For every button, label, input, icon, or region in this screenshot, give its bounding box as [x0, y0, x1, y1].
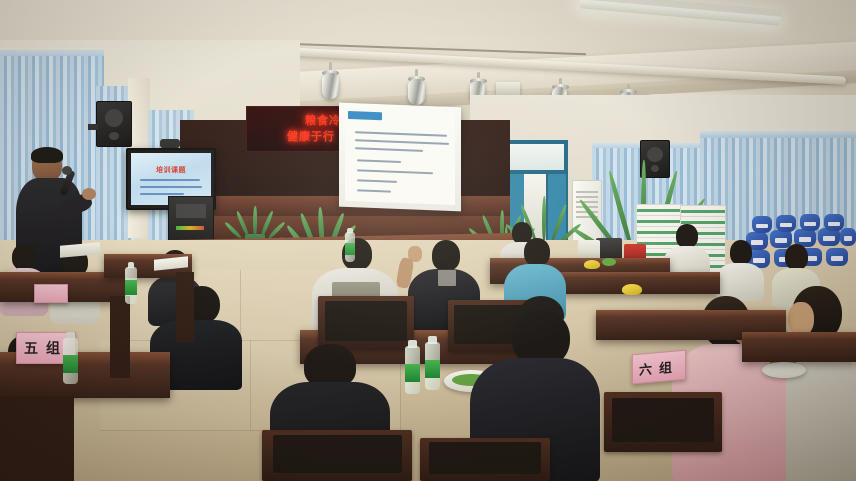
- slide-text-line: [355, 131, 447, 137]
- slide-header-bar: [348, 111, 382, 120]
- face: [788, 302, 814, 336]
- speaker-bracket-left: [88, 124, 98, 130]
- presenter-hand: [82, 188, 96, 200]
- bananas: [584, 260, 600, 269]
- slide-text-line: [357, 189, 391, 192]
- ceiling-projector: [496, 82, 520, 96]
- rack-indicator-lights: [176, 226, 204, 230]
- slide-text-line: [355, 147, 423, 152]
- conference-room-photo: 粮食冷链 健康于行 培训课题: [0, 0, 856, 481]
- slide-text-line: [355, 139, 449, 145]
- desk-leg: [0, 396, 74, 481]
- wall-speaker-left: [96, 101, 132, 147]
- microphone-head: [62, 166, 72, 175]
- audience-member-far-3: [716, 240, 764, 298]
- projection-screen: [339, 103, 461, 212]
- green-water-bottle: [62, 332, 79, 384]
- chair: [318, 296, 414, 350]
- tv-slide-line: [140, 179, 200, 181]
- led-banner-line-2: 健康于行: [287, 128, 335, 144]
- far-right-curtain-rail: [700, 131, 856, 138]
- tv-slide-line: [140, 186, 202, 188]
- audience-member-front-3: [786, 286, 856, 481]
- lanyard: [438, 270, 456, 286]
- chair: [262, 430, 412, 481]
- camera-on-monitor: [160, 139, 180, 148]
- slide-surface: [345, 109, 455, 205]
- slide-text-line: [357, 179, 397, 183]
- desk-leg: [110, 296, 130, 378]
- tv-slide-title: 培训课题: [131, 165, 211, 175]
- green-water-bottle: [404, 340, 421, 394]
- plate-of-greens: [602, 258, 616, 266]
- slide-text-line: [357, 159, 401, 163]
- group-placard-6: 六组: [632, 350, 686, 385]
- green-water-bottle: [344, 228, 356, 262]
- bananas: [622, 284, 642, 295]
- tv-slide-line: [140, 193, 184, 195]
- desk-leg: [176, 272, 194, 342]
- slide-text-line: [357, 169, 433, 174]
- white-bag: [578, 240, 600, 260]
- chair: [420, 438, 550, 481]
- presenter-hair: [31, 147, 63, 163]
- green-water-bottle: [424, 336, 441, 390]
- green-water-bottle: [124, 262, 138, 304]
- mixer-console: [176, 204, 206, 218]
- chair: [604, 392, 722, 452]
- plate: [762, 362, 806, 378]
- table-row: [742, 332, 856, 362]
- group-placard-front-left: [34, 284, 68, 303]
